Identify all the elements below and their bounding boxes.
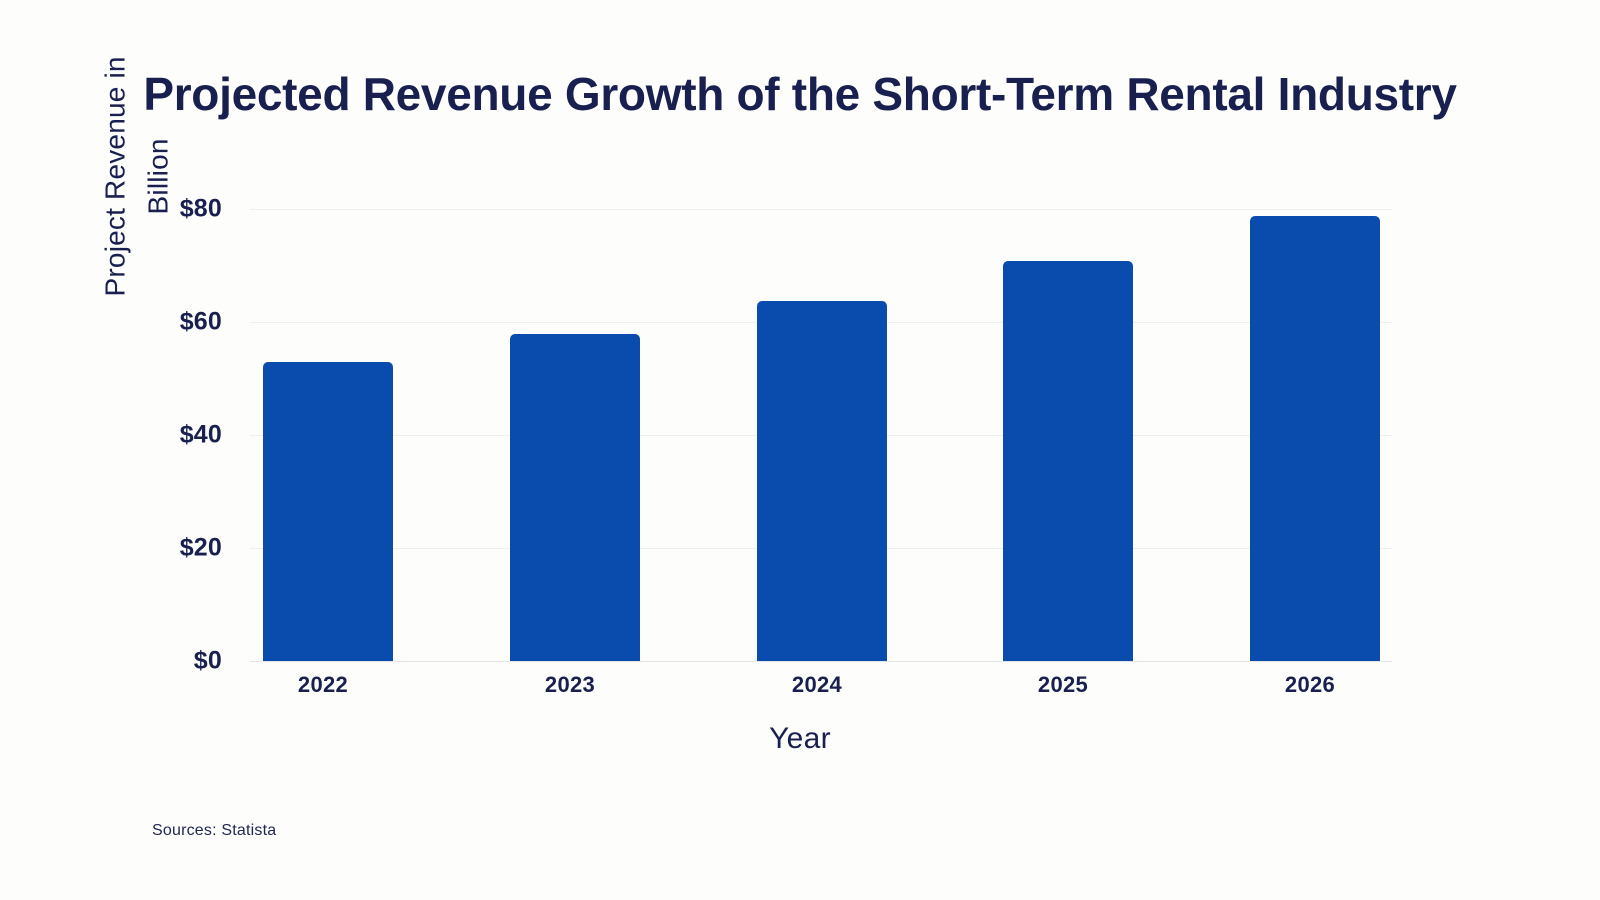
bar-2024[interactable] [757, 301, 887, 661]
x-tick-label-2023: 2023 [470, 672, 670, 698]
y-tick-label-60: $60 [22, 308, 222, 337]
x-tick-label-2024: 2024 [717, 672, 917, 698]
y-tick-label-80: $80 [22, 195, 222, 224]
x-tick-label-2022: 2022 [223, 672, 423, 698]
gridline-baseline-0 [250, 661, 1392, 662]
gridline-80 [250, 209, 1392, 210]
bar-2023[interactable] [510, 334, 640, 661]
chart-title: Projected Revenue Growth of the Short-Te… [100, 57, 1500, 132]
x-tick-label-2025: 2025 [963, 672, 1163, 698]
x-axis-title: Year [0, 722, 1600, 756]
y-tick-label-20: $20 [22, 534, 222, 563]
bar-2022[interactable] [263, 362, 393, 661]
y-tick-label-40: $40 [22, 421, 222, 450]
source-note: Sources: Statista [152, 822, 276, 840]
bar-chart-figure: Projected Revenue Growth of the Short-Te… [0, 0, 1600, 900]
bar-2025[interactable] [1003, 261, 1133, 661]
bar-2026[interactable] [1250, 216, 1380, 661]
y-tick-label-0: $0 [22, 647, 222, 676]
x-tick-label-2026: 2026 [1210, 672, 1410, 698]
plot-area [250, 209, 1392, 661]
